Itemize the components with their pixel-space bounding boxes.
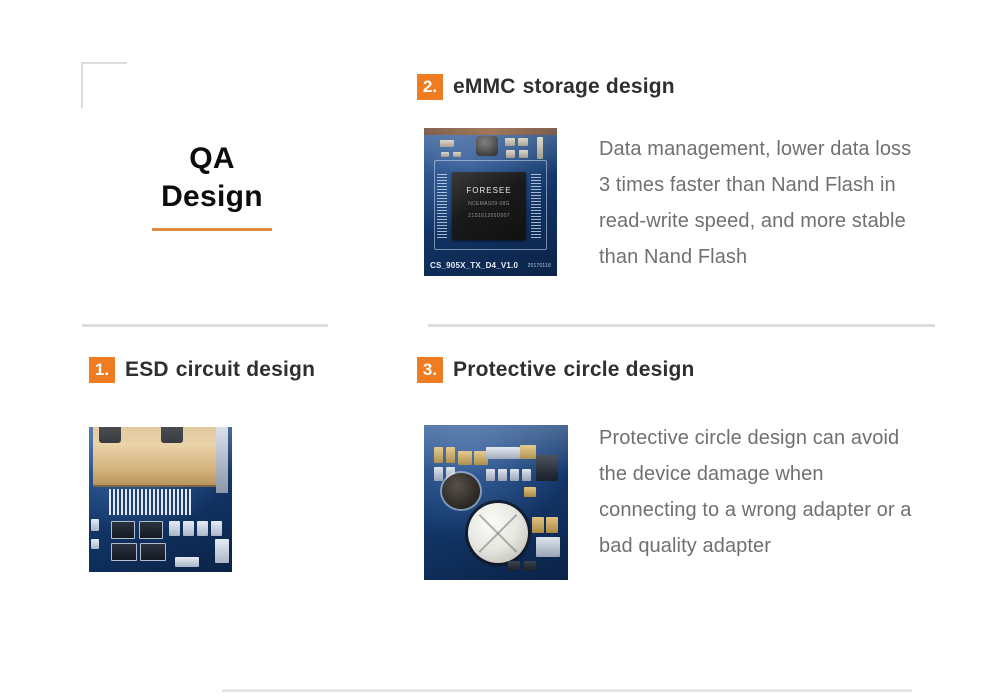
qa-design-title-block: QA Design [96,140,328,231]
esd-ic-3 [111,543,137,561]
emmc-smd-resistor-3 [453,152,461,157]
page-title-line-2: Design [96,178,328,216]
section-title-protective-part2: circle design [557,358,695,381]
emmc-chip-brand-text: FORESEE [452,186,526,195]
divider-left [82,324,328,327]
circle-smd-gold-2 [446,447,455,463]
esd-ic-4 [140,543,166,561]
sd-slot-metal-frame [216,427,228,493]
circle-smd-grey-7 [522,469,531,481]
emmc-smd-resistor-2 [441,152,449,157]
emmc-smd-resistor-6 [506,150,515,158]
divider-right [428,324,935,327]
emmc-smd-resistor-4 [505,138,515,146]
esd-pad-6 [91,539,99,549]
sd-slot-notch-right [161,427,183,443]
emmc-smd-resistor-1 [440,140,454,147]
esd-pad-2 [183,521,194,536]
section-title-emmc-part1: eMMC [453,75,516,98]
circle-smd-grey-3 [486,447,520,459]
emmc-smd-resistor-8 [537,137,543,159]
emmc-pad-row-left [437,174,447,238]
esd-ic-1 [111,521,135,539]
emmc-inductor [476,136,498,156]
circle-smd-grey-8 [536,537,560,557]
emmc-chip-part-number-text: NCEMAS09-08G [452,201,526,207]
protective-circle-photo [424,425,568,580]
esd-pad-7 [175,557,199,567]
section-badge-2: 2. [417,74,443,100]
emmc-board-silkscreen-text: CS_905X_TX_D4_V1.0 [430,261,518,270]
title-underline-rule [152,228,272,231]
circle-smd-grey-1 [434,467,443,481]
circle-smd-dark-2 [524,561,536,571]
circle-smd-gold-6 [524,487,536,497]
emmc-top-edge-strip [424,128,557,135]
section-title-protective-part1: Protective [453,358,557,381]
emmc-flash-chip: FORESEE NCEMAS09-08G Z1S161205D007 [452,172,526,240]
esd-pad-4 [211,521,222,536]
esd-pad-1 [169,521,180,536]
esd-pad-8 [215,539,229,563]
esd-circuit-photo [89,427,232,572]
corner-bracket-decoration [81,62,127,108]
emmc-smd-resistor-5 [518,138,528,146]
circle-smd-gold-5 [520,445,536,459]
esd-pad-3 [197,521,208,536]
emmc-pad-row-right [531,174,541,238]
sd-slot-contact-fingers [109,489,191,515]
section-badge-1: 1. [89,357,115,383]
section-heading-protective-circle: 3. Protectivecircle design [417,357,695,383]
protective-circle-component [468,503,528,563]
section-badge-3: 3. [417,357,443,383]
section-title-emmc: eMMCstorage design [453,75,675,99]
esd-ic-2 [139,521,163,539]
circle-smd-gold-7 [532,517,544,533]
emmc-chip-lot-code-text: Z1S161205D007 [452,213,526,219]
section-heading-emmc: 2. eMMCstorage design [417,74,675,100]
circle-smd-gold-8 [546,517,558,533]
circle-smd-gold-1 [434,447,443,463]
circle-smd-dark-1 [508,561,520,571]
emmc-smd-resistor-7 [519,150,528,158]
circle-smd-grey-6 [510,469,519,481]
section-title-protective-circle: Protectivecircle design [453,358,695,382]
emmc-board-date-code-text: 20170118 [528,263,551,269]
section-title-esd-part1: ESD [125,358,169,381]
esd-pad-5 [91,519,99,531]
emmc-module-photo: FORESEE NCEMAS09-08G Z1S161205D007 CS_90… [424,128,557,276]
circle-smd-gold-3 [458,451,472,465]
circle-smd-grey-5 [498,469,507,481]
circle-smd-grey-4 [486,469,495,481]
sd-slot-notch-left [99,427,121,443]
circle-transistor [536,455,558,481]
page-title-line-1: QA [96,140,328,178]
section-body-protective-circle: Protective circle design can avoid the d… [599,420,919,564]
circle-electrolytic-cap [442,473,480,509]
section-title-esd-part2: circuit design [169,358,315,381]
section-title-emmc-part2: storage design [516,75,675,98]
page-root: QA Design 2. eMMCstorage design FORESEE … [0,0,990,700]
section-title-esd: ESDcircuit design [125,358,315,382]
section-heading-esd: 1. ESDcircuit design [89,357,315,383]
section-body-emmc: Data management, lower data loss 3 times… [599,131,919,275]
divider-bottom [222,689,912,692]
